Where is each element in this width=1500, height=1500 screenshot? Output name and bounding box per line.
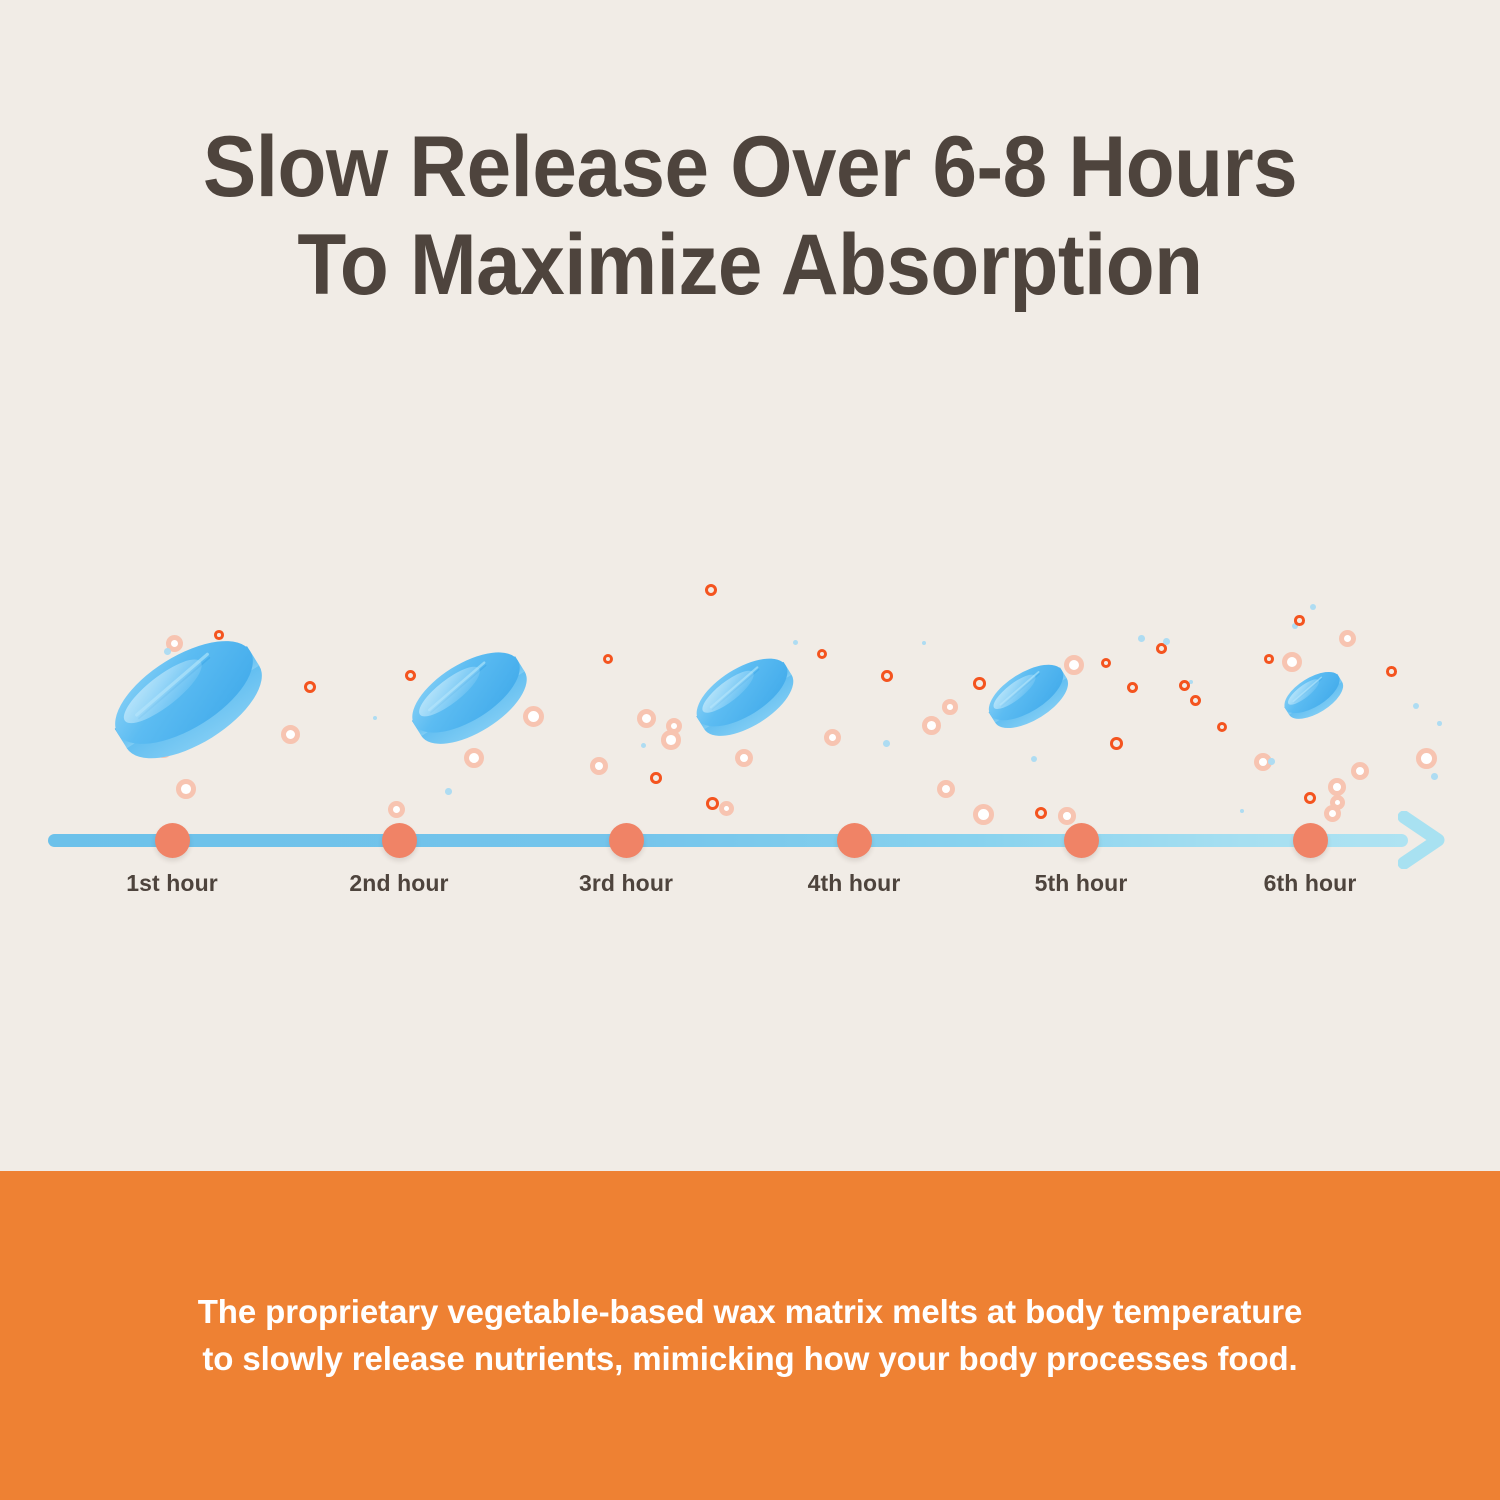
timeline-tick-dot <box>382 823 417 858</box>
particle-dot-blue-icon <box>1268 758 1275 765</box>
timeline-tick-dot <box>609 823 644 858</box>
timeline: 1st hour2nd hour3rd hour4th hour5th hour… <box>0 790 1500 920</box>
timeline-tick-dot <box>837 823 872 858</box>
timeline-tick-dot <box>155 823 190 858</box>
title-line-1: Slow Release Over 6-8 Hours <box>53 118 1448 216</box>
timeline-axis-line <box>48 834 1408 847</box>
particle-dot-blue-icon <box>1431 773 1438 780</box>
pill-illustration <box>388 626 544 764</box>
pill-illustration <box>84 608 284 783</box>
timeline-tick-label: 6th hour <box>1190 870 1430 897</box>
particle-dot-blue-icon <box>1310 604 1316 610</box>
particle-dot-blue-icon <box>641 743 646 748</box>
timeline-tick-label: 2nd hour <box>279 870 519 897</box>
timeline-arrow-icon <box>1398 811 1446 869</box>
particle-ring-bright-icon <box>1217 722 1227 732</box>
particle-dot-blue-icon <box>373 716 377 720</box>
particle-ring-bright-icon <box>817 649 827 659</box>
particle-dot-blue-icon <box>883 740 890 747</box>
particle-dot-blue-icon <box>1437 721 1442 726</box>
timeline-tick-dot <box>1064 823 1099 858</box>
infographic-root: Slow Release Over 6-8 Hours To Maximize … <box>0 0 1500 1500</box>
timeline-tick-label: 3rd hour <box>506 870 746 897</box>
particle-dot-blue-icon <box>922 641 926 645</box>
particle-ring-bright-icon <box>1386 666 1397 677</box>
pill-tablet-icon <box>1272 659 1352 727</box>
timeline-tick-label: 4th hour <box>734 870 974 897</box>
particle-ring-pale-icon <box>824 729 841 746</box>
particle-ring-bright-icon <box>1110 737 1123 750</box>
particle-ring-bright-icon <box>705 584 717 596</box>
timeline-tick-label: 5th hour <box>961 870 1201 897</box>
pill-illustration <box>676 637 808 754</box>
particle-ring-bright-icon <box>1101 658 1111 668</box>
particle-ring-bright-icon <box>1127 682 1138 693</box>
bottom-banner: The proprietary vegetable-based wax matr… <box>0 1171 1500 1500</box>
particle-ring-pale-icon <box>637 709 656 728</box>
pill-tablet-icon <box>676 637 808 749</box>
pill-illustration <box>1272 659 1352 732</box>
particle-ring-bright-icon <box>1294 615 1305 626</box>
title-line-2: To Maximize Absorption <box>53 216 1448 314</box>
pill-tablet-icon <box>972 647 1080 739</box>
particle-dot-blue-icon <box>1031 756 1037 762</box>
banner-line-2: to slowly release nutrients, mimicking h… <box>100 1336 1400 1383</box>
particle-ring-bright-icon <box>1190 695 1201 706</box>
timeline-tick-dot <box>1293 823 1328 858</box>
particle-ring-pale-icon <box>942 699 958 715</box>
banner-text: The proprietary vegetable-based wax matr… <box>100 1289 1400 1383</box>
particle-ring-pale-icon <box>1416 748 1437 769</box>
banner-line-1: The proprietary vegetable-based wax matr… <box>100 1289 1400 1336</box>
page-title: Slow Release Over 6-8 Hours To Maximize … <box>53 118 1448 314</box>
particle-ring-pale-icon <box>1351 762 1369 780</box>
timeline-tick-label: 1st hour <box>52 870 292 897</box>
particle-dot-blue-icon <box>1413 703 1419 709</box>
particle-ring-bright-icon <box>650 772 662 784</box>
particle-ring-pale-icon <box>1339 630 1356 647</box>
pill-illustration <box>972 647 1080 744</box>
particle-dot-blue-icon <box>1163 638 1170 645</box>
particle-ring-pale-icon <box>922 716 941 735</box>
pill-tablet-icon <box>388 626 544 759</box>
particle-ring-bright-icon <box>1179 680 1190 691</box>
pill-tablet-icon <box>84 608 284 778</box>
particle-dot-blue-icon <box>1138 635 1145 642</box>
